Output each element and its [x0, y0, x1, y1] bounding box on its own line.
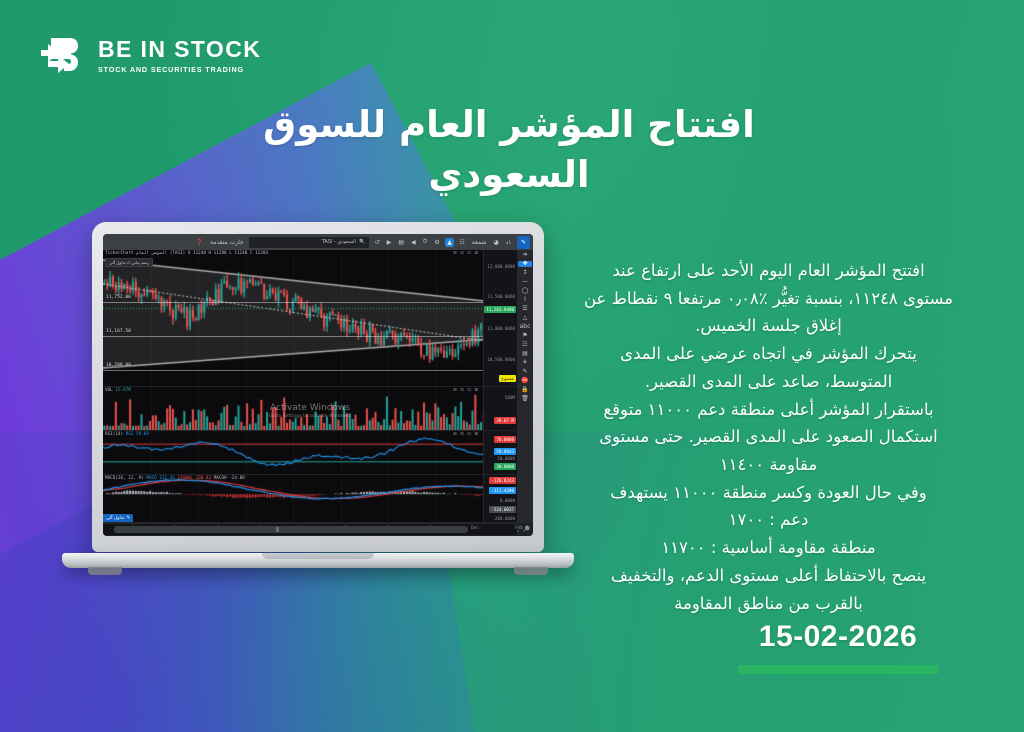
trash-icon[interactable]: 🗑: [521, 396, 529, 402]
page-title: افتتاح المؤشر العام للسوق السعودي: [179, 100, 839, 200]
symbol-search-input[interactable]: 🔍 TASI - السعودي: [249, 237, 369, 248]
rsi-canvas[interactable]: [103, 431, 517, 475]
brand-tagline: STOCK AND SECURITIES TRADING: [98, 65, 261, 74]
volume-tick: 500M: [505, 395, 515, 400]
ruler-icon[interactable]: ▤: [522, 351, 528, 357]
price-pane[interactable]: TickerChart المؤشر العام (TASI) O 11248 …: [103, 250, 517, 387]
resistance-line: [103, 302, 483, 303]
volume-legend-label: VOL: [105, 388, 113, 393]
macd-value: MACD 111.43: [146, 476, 174, 481]
laptop-mockup: ✎ ١د ◕ شمعة ☷ ▲ ⚙ ⏱ ◀ ▤ ▶ ↺ 🔍 TASI - الس…: [62, 222, 574, 592]
rsi-oversold-badge: 30.0000: [494, 463, 516, 470]
macd-legend: MACD(26, 12, 9) MACD 111.43 SIGNAL 138.8…: [105, 476, 245, 481]
rsi-pane[interactable]: RSI(14) RSI 59.09 ⊞ ⊟ ⊡ ⊠ 70.0000 59.094…: [103, 431, 517, 475]
rsi-tick: 50.0000: [497, 456, 515, 461]
ellipse-icon[interactable]: ◯: [522, 288, 529, 294]
macd-zero-tick: 0.0000: [500, 498, 515, 503]
volume-legend-value: 15.87M: [115, 388, 131, 393]
legend-symbol-ar: المؤشر العام (TASI): [136, 251, 185, 256]
candles-button[interactable]: شمعة: [470, 239, 488, 246]
volume-legend: VOL 15.87M: [105, 388, 131, 393]
time-label: Dec: [471, 526, 479, 531]
article-line: إغلاق جلسة الخميس.: [561, 313, 976, 340]
fib-icon[interactable]: ☰: [522, 306, 527, 312]
symbol-search-value: TASI - السعودي: [322, 239, 356, 245]
price-legend: TickerChart المؤشر العام (TASI) O 11248 …: [105, 251, 268, 256]
crosshair-icon[interactable]: ✚: [518, 261, 532, 267]
rsi-legend-value: RSI 59.09: [126, 432, 149, 437]
macd-pane[interactable]: MACD(26, 12, 9) MACD 111.43 SIGNAL 138.8…: [103, 475, 517, 523]
price-axis[interactable]: 12,000.0000 11,500.0000 11,000.0000 10,5…: [483, 250, 517, 386]
flag-icon[interactable]: ⚑: [522, 333, 527, 339]
legend-symbol: TickerChart: [105, 251, 133, 256]
macd-tick: -200.0000: [492, 516, 515, 521]
search-icon: 🔍: [359, 239, 365, 245]
article-line: باستقرار المؤشر أعلى منطقة دعم ١١٠٠٠ متو…: [561, 397, 976, 424]
laptop-lid: ✎ ١د ◕ شمعة ☷ ▲ ⚙ ⏱ ◀ ▤ ▶ ↺ 🔍 TASI - الس…: [92, 222, 544, 552]
volume-axis[interactable]: 500M 38.67 M: [483, 387, 517, 430]
pencil-icon: ✎: [127, 516, 131, 521]
lock-icon[interactable]: 🔒: [521, 387, 528, 393]
interval-button[interactable]: ١د: [504, 239, 513, 246]
laptop-screen: ✎ ١د ◕ شمعة ☷ ▲ ⚙ ⏱ ◀ ▤ ▶ ↺ 🔍 TASI - الس…: [103, 234, 533, 536]
price-tick: 12,000.0000: [487, 264, 515, 269]
layout-icon[interactable]: ▤: [397, 239, 406, 246]
settings-icon[interactable]: ⚙: [433, 239, 441, 246]
support-line-label: 10,288.00: [106, 363, 131, 368]
replay-icon[interactable]: ▶: [385, 239, 393, 246]
chart-type-icon[interactable]: ☷: [458, 239, 466, 246]
macd-signal-value: SIGNAL 138.83: [177, 476, 211, 481]
date-block: 15-02-2026: [738, 620, 938, 674]
article-body: افتتح المؤشر العام اليوم الأحد على ارتفا…: [561, 258, 976, 618]
tradingview-toolbar[interactable]: ✎ ١د ◕ شمعة ☷ ▲ ⚙ ⏱ ◀ ▤ ▶ ↺ 🔍 TASI - الس…: [103, 234, 533, 250]
macd-legend-label: MACD(26, 12, 9): [105, 476, 144, 481]
indicator-active-icon[interactable]: ▲: [445, 238, 454, 247]
be-in-stock-mark-icon: [34, 30, 86, 82]
article-line: يتحرك المؤشر في اتجاه عرضي على المدى: [561, 341, 976, 368]
rsi-legend-label: RSI(14): [105, 432, 123, 437]
rsi-overbought-badge: 70.0000: [494, 436, 516, 443]
laptop-foot-left: [88, 567, 122, 575]
mid-line: [103, 336, 483, 337]
macd-canvas[interactable]: [103, 475, 517, 523]
auto-trade-label: تداول آلي: [106, 516, 125, 521]
legend-ohlc: O 11248 H 11288 L 11248 C 11284: [188, 251, 268, 256]
macd-line-badge: -111.4300: [489, 487, 516, 494]
article-line: استكمال الصعود على المدى القصير. حتى مست…: [561, 424, 976, 451]
article-line: مقاومة ١١٤٠٠: [561, 452, 976, 479]
article-line: ينصح بالاحتفاظ أعلى مستوى الدعم، والتخفي…: [561, 563, 976, 590]
price-canvas[interactable]: [103, 250, 517, 387]
article-line: مستوى ١١٢٤٨، بنسبة تغيُّر ٪٠٫٠٨ مرتفعا ٩…: [561, 286, 976, 313]
mid-line-label: 11,167.50: [106, 329, 131, 334]
drawing-toolbar[interactable]: ➔ ✚ ↕ — ◯ I ☰ △ abc ⚑ ☷ ▤ ⚘ ✎ ⛔ 🔒 🗑: [517, 250, 533, 523]
pane-controls[interactable]: ⊞ ⊟ ⊡ ⊠: [453, 251, 479, 256]
trend-line-icon[interactable]: ↕: [522, 270, 527, 276]
pane-controls[interactable]: ⊞ ⊟ ⊡ ⊠: [453, 432, 479, 437]
undo-icon[interactable]: ↺: [373, 239, 381, 246]
rsi-axis[interactable]: 70.0000 59.0943 50.0000 30.0000: [483, 431, 517, 474]
countdown-badge: مفتوح: [499, 375, 516, 382]
time-label: Feb: [515, 526, 523, 531]
macd-bottom-badge: -524.6037: [489, 506, 516, 513]
pattern-icon[interactable]: △: [523, 315, 528, 321]
publish-date: 15-02-2026: [738, 620, 938, 654]
help-icon[interactable]: ❓: [194, 239, 204, 246]
brand-logo: BE IN STOCK STOCK AND SECURITIES TRADING: [34, 30, 261, 82]
macd-hist-badge: -126.8243: [489, 477, 516, 484]
resistance-line-label: 11,752.00: [106, 295, 131, 300]
rsi-legend: RSI(14) RSI 59.09: [105, 432, 149, 437]
hide-icon[interactable]: ⛔: [521, 378, 528, 384]
date-underline-rule: [738, 665, 938, 674]
chart-panes: TickerChart المؤشر العام (TASI) O 11248 …: [103, 250, 517, 523]
alerts-panel-button[interactable]: جارت متقدمة: [209, 239, 246, 246]
laptop-base: [62, 553, 574, 568]
support-line: [103, 370, 483, 371]
laptop-foot-right: [514, 567, 548, 575]
volume-pane[interactable]: VOL 15.87M ⊞ ⊟ ⊡ ⊠ 500M 38.67 M: [103, 387, 517, 431]
price-tick: 11,500.0000: [487, 294, 515, 299]
macd-axis[interactable]: -126.8243 -111.4300 0.0000 -524.6037 -20…: [483, 475, 517, 522]
price-tick: 10,500.0000: [487, 357, 515, 362]
macd-hist-value: MACDH -24.88: [214, 476, 245, 481]
clock-icon[interactable]: ◕: [492, 239, 500, 246]
last-price-badge: 11,263.9400: [484, 306, 516, 313]
price-tick: 11,000.0000: [487, 326, 515, 331]
article-line: دعم : ١٧٠٠: [561, 507, 976, 534]
horizontal-line-icon[interactable]: —: [522, 279, 528, 285]
pane-controls[interactable]: ⊞ ⊟ ⊡ ⊠: [453, 388, 479, 393]
article-line: المتوسط، صاعد على المدى القصير.: [561, 369, 976, 396]
auto-trade-tab[interactable]: تداول آلي ✎: [103, 514, 133, 522]
alert-icon[interactable]: ⏱: [421, 238, 429, 246]
zoom-in-icon[interactable]: 🔎: [523, 526, 530, 533]
rsi-value-badge: 59.0943: [494, 448, 516, 455]
volume-badge: 38.67 M: [494, 417, 516, 424]
abc-icon[interactable]: abc: [520, 324, 531, 330]
measure-icon[interactable]: ☷: [522, 342, 527, 348]
article-line: بالقرب من مناطق المقاومة: [561, 591, 976, 618]
pencil-icon[interactable]: ✎: [517, 236, 530, 249]
volume-canvas[interactable]: [103, 387, 517, 431]
compare-icon[interactable]: ◀: [410, 239, 418, 246]
time-scrollbar[interactable]: [114, 526, 468, 533]
article-line: افتتح المؤشر العام اليوم الأحد على ارتفا…: [561, 258, 976, 285]
article-line: منطقة مقاومة أساسية : ١١٧٠٠: [561, 535, 976, 562]
cursor-icon[interactable]: ➔: [522, 252, 527, 258]
brush-icon[interactable]: ✎: [522, 369, 527, 375]
chart-mode-chip[interactable]: رسم بياني ▫ تداول آلي: [105, 258, 153, 267]
text-icon[interactable]: I: [524, 297, 526, 303]
chart-workspace: TickerChart المؤشر العام (TASI) O 11248 …: [103, 250, 533, 523]
brand-name: BE IN STOCK: [98, 38, 261, 61]
magnet-icon[interactable]: ⚘: [522, 360, 527, 366]
article-line: وفي حال العودة وكسر منطقة ١١٠٠٠ يستهدف: [561, 480, 976, 507]
